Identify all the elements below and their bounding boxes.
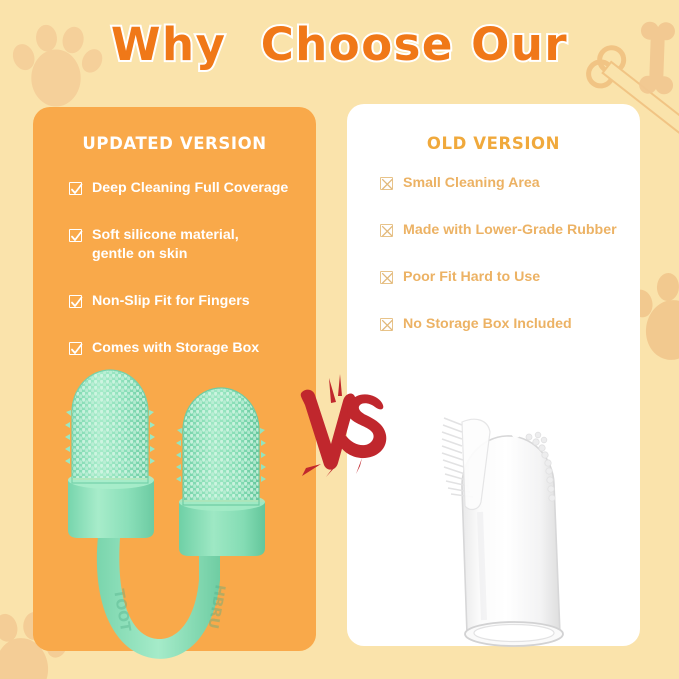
list-item: Deep Cleaning Full Coverage bbox=[69, 179, 316, 198]
list-item: Small Cleaning Area bbox=[380, 174, 640, 193]
list-item: Made with Lower-Grade Rubber bbox=[380, 221, 640, 240]
green-silicone-double-finger-toothbrush-image: TOOT HBRU bbox=[58, 368, 302, 668]
promo-banner: Why Choose Our UPDATED VERSION Deep Clea… bbox=[0, 0, 679, 679]
list-item: No Storage Box Included bbox=[380, 315, 640, 334]
updated-version-feature-list: Deep Cleaning Full Coverage Soft silicon… bbox=[69, 179, 316, 386]
list-item-label: Non-Slip Fit for Fingers bbox=[92, 292, 250, 311]
checkbox-crossed-icon bbox=[380, 271, 393, 284]
checkbox-checked-icon bbox=[69, 295, 82, 308]
checkbox-crossed-icon bbox=[380, 318, 393, 331]
vs-brushstroke-glyph bbox=[301, 374, 387, 477]
list-item-label: No Storage Box Included bbox=[403, 315, 572, 334]
list-item: Soft silicone material, gentle on skin bbox=[69, 226, 316, 264]
page-title-container: Why Choose Our bbox=[0, 18, 679, 71]
old-version-feature-list: Small Cleaning Area Made with Lower-Grad… bbox=[380, 174, 640, 362]
list-item-label: Deep Cleaning Full Coverage bbox=[92, 179, 288, 198]
vs-badge bbox=[296, 372, 392, 477]
list-item-label: Made with Lower-Grade Rubber bbox=[403, 221, 617, 240]
checkbox-checked-icon bbox=[69, 229, 82, 242]
list-item-label: Comes with Storage Box bbox=[92, 339, 259, 358]
old-version-heading: OLD VERSION bbox=[347, 134, 640, 153]
highlight bbox=[512, 432, 520, 438]
page-title: Why Choose Our bbox=[111, 18, 568, 71]
checkbox-crossed-icon bbox=[380, 177, 393, 190]
updated-version-heading: UPDATED VERSION bbox=[33, 134, 316, 153]
list-item-label: Soft silicone material, gentle on skin bbox=[92, 226, 239, 264]
clear-plastic-finger-toothbrush-image bbox=[432, 392, 612, 654]
checkbox-checked-icon bbox=[69, 182, 82, 195]
checkbox-checked-icon bbox=[69, 342, 82, 355]
list-item: Poor Fit Hard to Use bbox=[380, 268, 640, 287]
list-item-label: Poor Fit Hard to Use bbox=[403, 268, 540, 287]
list-item-label: Small Cleaning Area bbox=[403, 174, 540, 193]
list-item: Non-Slip Fit for Fingers bbox=[69, 292, 316, 311]
checkbox-crossed-icon bbox=[380, 224, 393, 237]
list-item: Comes with Storage Box bbox=[69, 339, 316, 358]
